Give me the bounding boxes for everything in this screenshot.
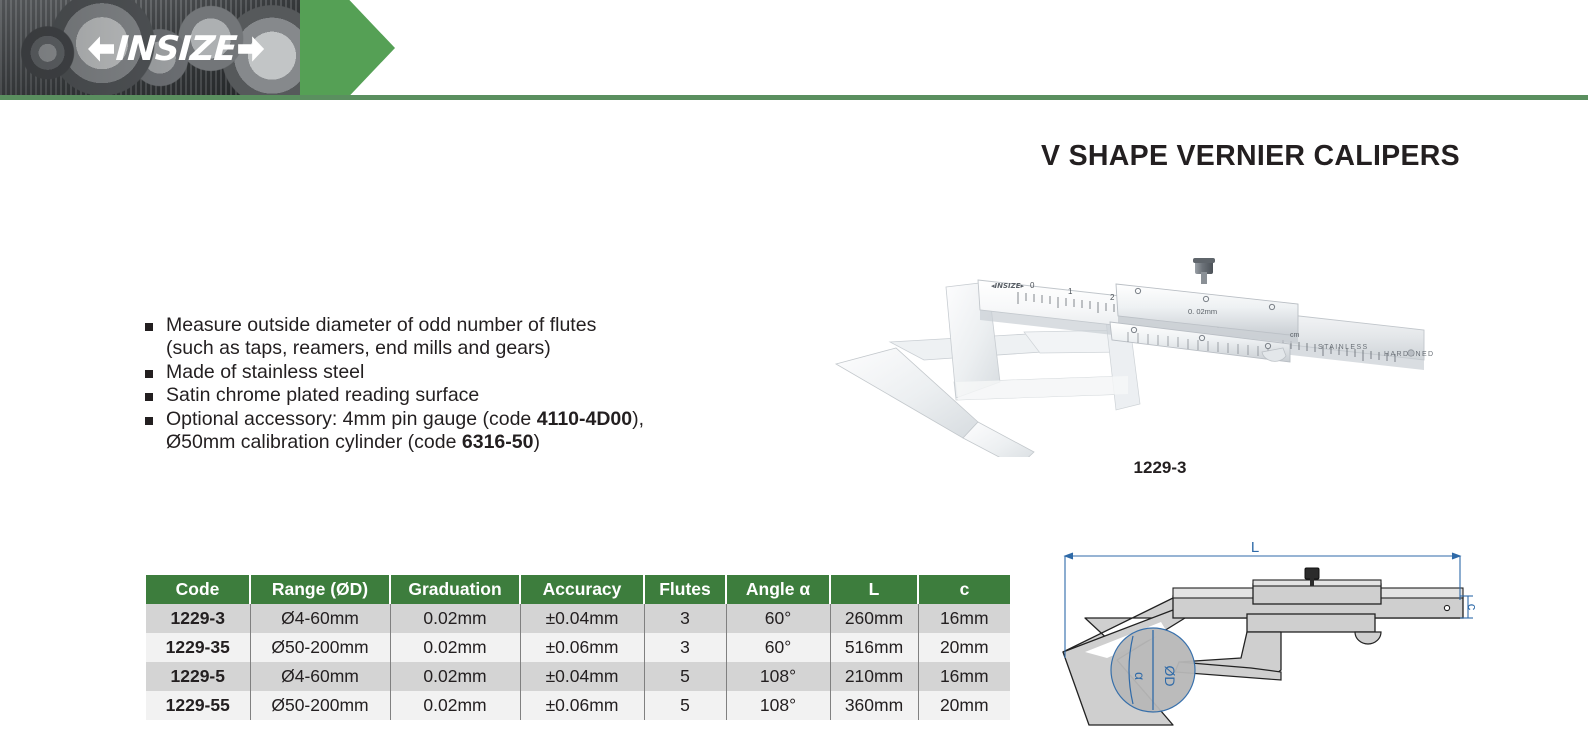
bullet-square-icon [145, 323, 153, 331]
feature-list: Measure outside diameter of odd number o… [142, 314, 702, 454]
insize-logo-text: INSIZE [113, 34, 239, 64]
header-green-rule [0, 95, 1588, 100]
cell-flutes: 3 [644, 633, 726, 662]
cell-l: 360mm [830, 691, 918, 720]
arrow-right-icon [238, 34, 264, 64]
dimension-label-alpha: α [1132, 672, 1148, 680]
feature-text-segment: ), [632, 408, 644, 430]
graduation-label: 0. 02mm [1188, 307, 1217, 316]
cell-range: Ø50-200mm [250, 691, 390, 720]
dimension-label-c: c [1465, 604, 1475, 611]
cell-code: 1229-5 [146, 662, 250, 691]
bullet-square-icon [145, 370, 153, 378]
feature-text-line: Ø50mm calibration cylinder (code 6316-50… [166, 431, 702, 454]
column-header-flutes: Flutes [644, 575, 726, 604]
column-header-c: c [918, 575, 1010, 604]
cell-accuracy: ±0.04mm [520, 604, 644, 633]
column-header-l: L [830, 575, 918, 604]
column-header-code: Code [146, 575, 250, 604]
feature-text-segment: Optional accessory: 4mm pin gauge (code [166, 408, 537, 430]
feature-item: Optional accessory: 4mm pin gauge (code … [142, 408, 702, 455]
cell-graduation: 0.02mm [390, 633, 520, 662]
cell-flutes: 5 [644, 691, 726, 720]
scale-number-1: 1 [1068, 287, 1073, 296]
arrow-left-icon [88, 34, 114, 64]
cell-c: 16mm [918, 604, 1010, 633]
scale-number-2: 2 [1110, 293, 1115, 302]
feature-text-segment: (such as taps, reamers, end mills and ge… [166, 337, 551, 359]
table-row: 1229-35Ø50-200mm0.02mm±0.06mm360°516mm20… [146, 633, 1010, 662]
cell-accuracy: ±0.06mm [520, 691, 644, 720]
cell-l: 516mm [830, 633, 918, 662]
bullet-square-icon [145, 417, 153, 425]
table-row: 1229-5Ø4-60mm0.02mm±0.04mm5108°210mm16mm [146, 662, 1010, 691]
caliper-photo-svg: 0 1 2 3 4 5 6 ◂INSIZE▸ [828, 252, 1448, 457]
cell-angle: 60° [726, 604, 830, 633]
product-photo-caption: 1229-3 [1060, 458, 1260, 478]
page-header-banner: INSIZE [0, 0, 1588, 96]
column-header-graduation: Graduation [390, 575, 520, 604]
specification-table: Code Range (ØD) Graduation Accuracy Flut… [146, 575, 1010, 720]
cell-code: 1229-35 [146, 633, 250, 662]
bullet-square-icon [145, 393, 153, 401]
product-photo: 0 1 2 3 4 5 6 ◂INSIZE▸ [828, 252, 1448, 457]
scale-number-0: 0 [1030, 281, 1035, 290]
feature-text-segment: Satin chrome plated reading surface [166, 384, 479, 406]
product-code-emphasis: 4110-4D00 [537, 408, 632, 430]
feature-text-line: Optional accessory: 4mm pin gauge (code … [166, 408, 702, 431]
feature-text-line: Satin chrome plated reading surface [166, 384, 702, 407]
stainless-label: STAINLESS [1318, 344, 1369, 351]
insize-logo: INSIZE [88, 34, 264, 64]
cell-graduation: 0.02mm [390, 604, 520, 633]
page-title: V SHAPE VERNIER CALIPERS [1041, 140, 1460, 173]
dimension-diagram-svg: L c α ØD [1055, 540, 1475, 740]
feature-text-segment: ) [533, 431, 540, 453]
cell-l: 260mm [830, 604, 918, 633]
cell-accuracy: ±0.04mm [520, 662, 644, 691]
cell-angle: 108° [726, 662, 830, 691]
cell-c: 20mm [918, 633, 1010, 662]
table-row: 1229-55Ø50-200mm0.02mm±0.06mm5108°360mm2… [146, 691, 1010, 720]
dimension-label-diameter: ØD [1162, 666, 1178, 687]
table-row: 1229-3Ø4-60mm0.02mm±0.04mm360°260mm16mm [146, 604, 1010, 633]
dimension-label-L: L [1251, 540, 1259, 556]
feature-text-line: Measure outside diameter of odd number o… [166, 314, 702, 337]
cell-flutes: 3 [644, 604, 726, 633]
cell-code: 1229-3 [146, 604, 250, 633]
feature-item: Satin chrome plated reading surface [142, 384, 702, 407]
cell-code: 1229-55 [146, 691, 250, 720]
dimension-diagram: L c α ØD [1055, 540, 1475, 740]
green-chevron-shape [300, 0, 395, 96]
cell-c: 20mm [918, 691, 1010, 720]
cell-range: Ø50-200mm [250, 633, 390, 662]
caliper-brand-mark: ◂INSIZE▸ [991, 282, 1024, 290]
cell-flutes: 5 [644, 662, 726, 691]
column-header-accuracy: Accuracy [520, 575, 644, 604]
feature-text-segment: Measure outside diameter of odd number o… [166, 314, 596, 336]
column-header-range: Range (ØD) [250, 575, 390, 604]
cell-accuracy: ±0.06mm [520, 633, 644, 662]
cell-graduation: 0.02mm [390, 662, 520, 691]
feature-item: Measure outside diameter of odd number o… [142, 314, 702, 361]
column-header-angle: Angle α [726, 575, 830, 604]
unit-label: cm [1290, 332, 1300, 339]
feature-text-segment: Ø50mm calibration cylinder (code [166, 431, 462, 453]
cell-angle: 60° [726, 633, 830, 662]
cell-c: 16mm [918, 662, 1010, 691]
product-code-emphasis: 6316-50 [462, 431, 534, 453]
cell-range: Ø4-60mm [250, 604, 390, 633]
cell-graduation: 0.02mm [390, 691, 520, 720]
cell-range: Ø4-60mm [250, 662, 390, 691]
feature-text-segment: Made of stainless steel [166, 361, 364, 383]
cell-l: 210mm [830, 662, 918, 691]
feature-item: Made of stainless steel [142, 361, 702, 384]
feature-text-line: Made of stainless steel [166, 361, 702, 384]
cell-angle: 108° [726, 691, 830, 720]
feature-text-line: (such as taps, reamers, end mills and ge… [166, 337, 702, 360]
table-header-row: Code Range (ØD) Graduation Accuracy Flut… [146, 575, 1010, 604]
product-datasheet-page: INSIZE V SHAPE VERNIER CALIPERS Measure … [0, 0, 1588, 756]
